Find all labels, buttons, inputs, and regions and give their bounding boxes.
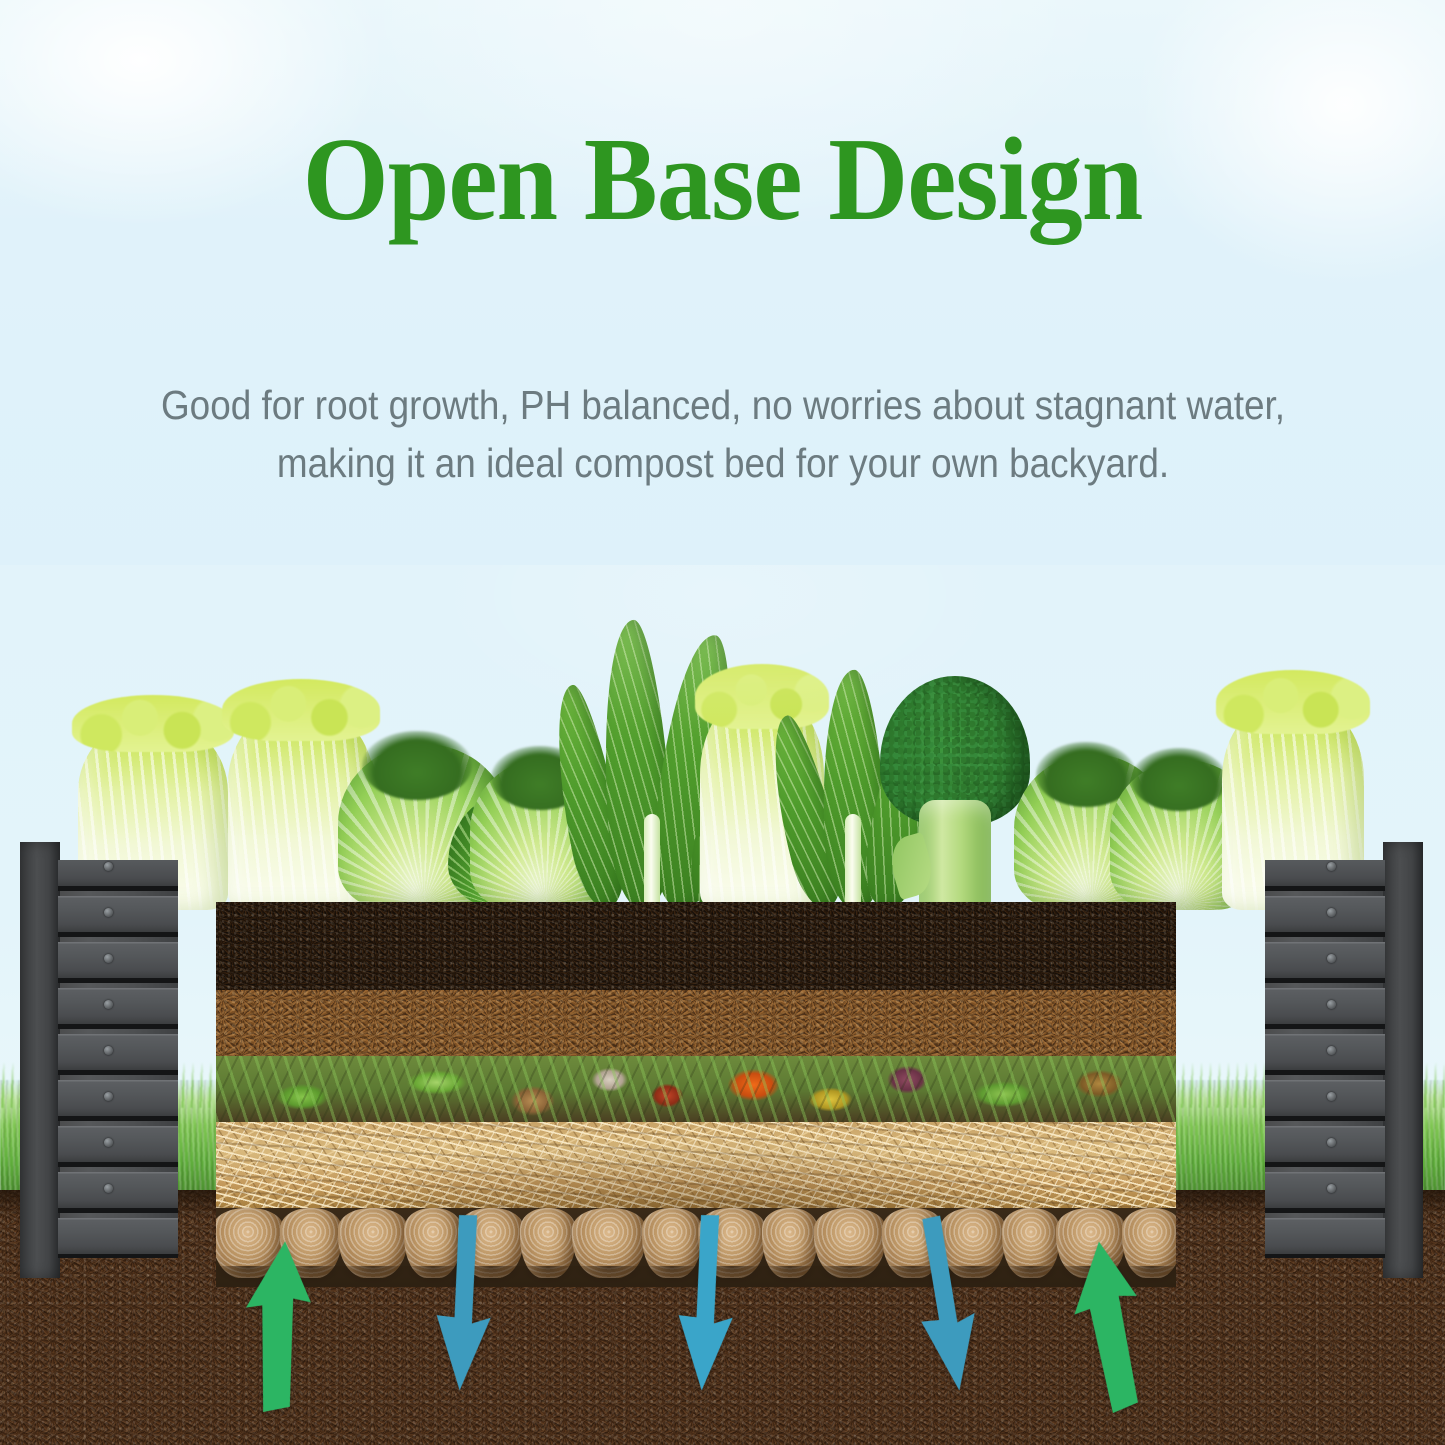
panel-slat — [1265, 1080, 1385, 1121]
infographic-canvas: Open Base Design Good for root growth, P… — [0, 0, 1445, 1445]
panel-screw — [104, 1138, 113, 1147]
panel-slat — [58, 1126, 178, 1167]
panel-screw — [104, 954, 113, 963]
log-end — [572, 1208, 646, 1278]
broccoli-stalk — [919, 800, 991, 910]
panel-slat — [58, 860, 178, 891]
corner-post — [20, 842, 60, 1278]
panel-slat — [58, 1172, 178, 1213]
arrow-down-3-icon — [912, 1215, 990, 1397]
arrow-down-2-icon — [672, 1215, 750, 1397]
right-side-panel — [1265, 860, 1385, 1258]
panel-screw — [1327, 862, 1336, 871]
panel-slat — [1265, 896, 1385, 937]
panel-slat — [1265, 1172, 1385, 1213]
panel-slat — [58, 1034, 178, 1075]
panel-slat — [1265, 942, 1385, 983]
product-illustration — [0, 565, 1445, 1445]
layer-kitchen-scraps — [216, 1056, 1176, 1122]
subtitle-line-1: Good for root growth, PH balanced, no wo… — [160, 382, 1284, 428]
panel-screw — [104, 908, 113, 917]
left-side-panel — [58, 860, 178, 1258]
panel-slat — [1265, 1126, 1385, 1167]
panel-screw — [104, 1184, 113, 1193]
page-title: Open Base Design — [51, 120, 1395, 239]
corner-post — [1383, 842, 1423, 1278]
panel-screw — [1327, 908, 1336, 917]
log-end — [762, 1208, 818, 1278]
layer-topsoil-compost — [216, 902, 1176, 990]
panel-slat — [58, 1218, 178, 1258]
leaf-stem — [845, 814, 861, 910]
panel-screw — [1327, 1000, 1336, 1009]
panel-slat — [1265, 988, 1385, 1029]
page-subtitle: Good for root growth, PH balanced, no wo… — [97, 376, 1348, 492]
subtitle-line-2: making it an ideal compost bed for your … — [276, 440, 1168, 486]
panel-slat — [58, 942, 178, 983]
log-end — [338, 1208, 408, 1278]
panel-slats — [1265, 860, 1385, 1258]
panel-screw — [104, 862, 113, 871]
log-end — [814, 1208, 886, 1278]
vegetable-row — [0, 565, 1445, 910]
broccoli-icon — [880, 676, 1030, 910]
panel-screw — [1327, 1138, 1336, 1147]
panel-screw — [104, 1000, 113, 1009]
panel-screw — [104, 1092, 113, 1101]
layer-straw — [216, 1122, 1176, 1208]
arrow-down-1-icon — [430, 1215, 508, 1397]
panel-slat — [1265, 1218, 1385, 1258]
panel-slat — [58, 896, 178, 937]
panel-slat — [58, 988, 178, 1029]
leaf-stem — [644, 814, 660, 910]
panel-slats — [58, 860, 178, 1258]
arrow-up-right-icon — [1070, 1237, 1148, 1419]
log-end — [520, 1208, 576, 1278]
panel-screw — [1327, 1184, 1336, 1193]
layer-bark-mulch — [216, 990, 1176, 1056]
arrow-up-left-icon — [238, 1237, 316, 1419]
panel-screw — [1327, 954, 1336, 963]
panel-slat — [1265, 1034, 1385, 1075]
panel-screw — [104, 1046, 113, 1055]
panel-screw — [1327, 1092, 1336, 1101]
panel-slat — [1265, 860, 1385, 891]
log-end — [1002, 1208, 1060, 1278]
panel-slat — [58, 1080, 178, 1121]
panel-screw — [1327, 1046, 1336, 1055]
